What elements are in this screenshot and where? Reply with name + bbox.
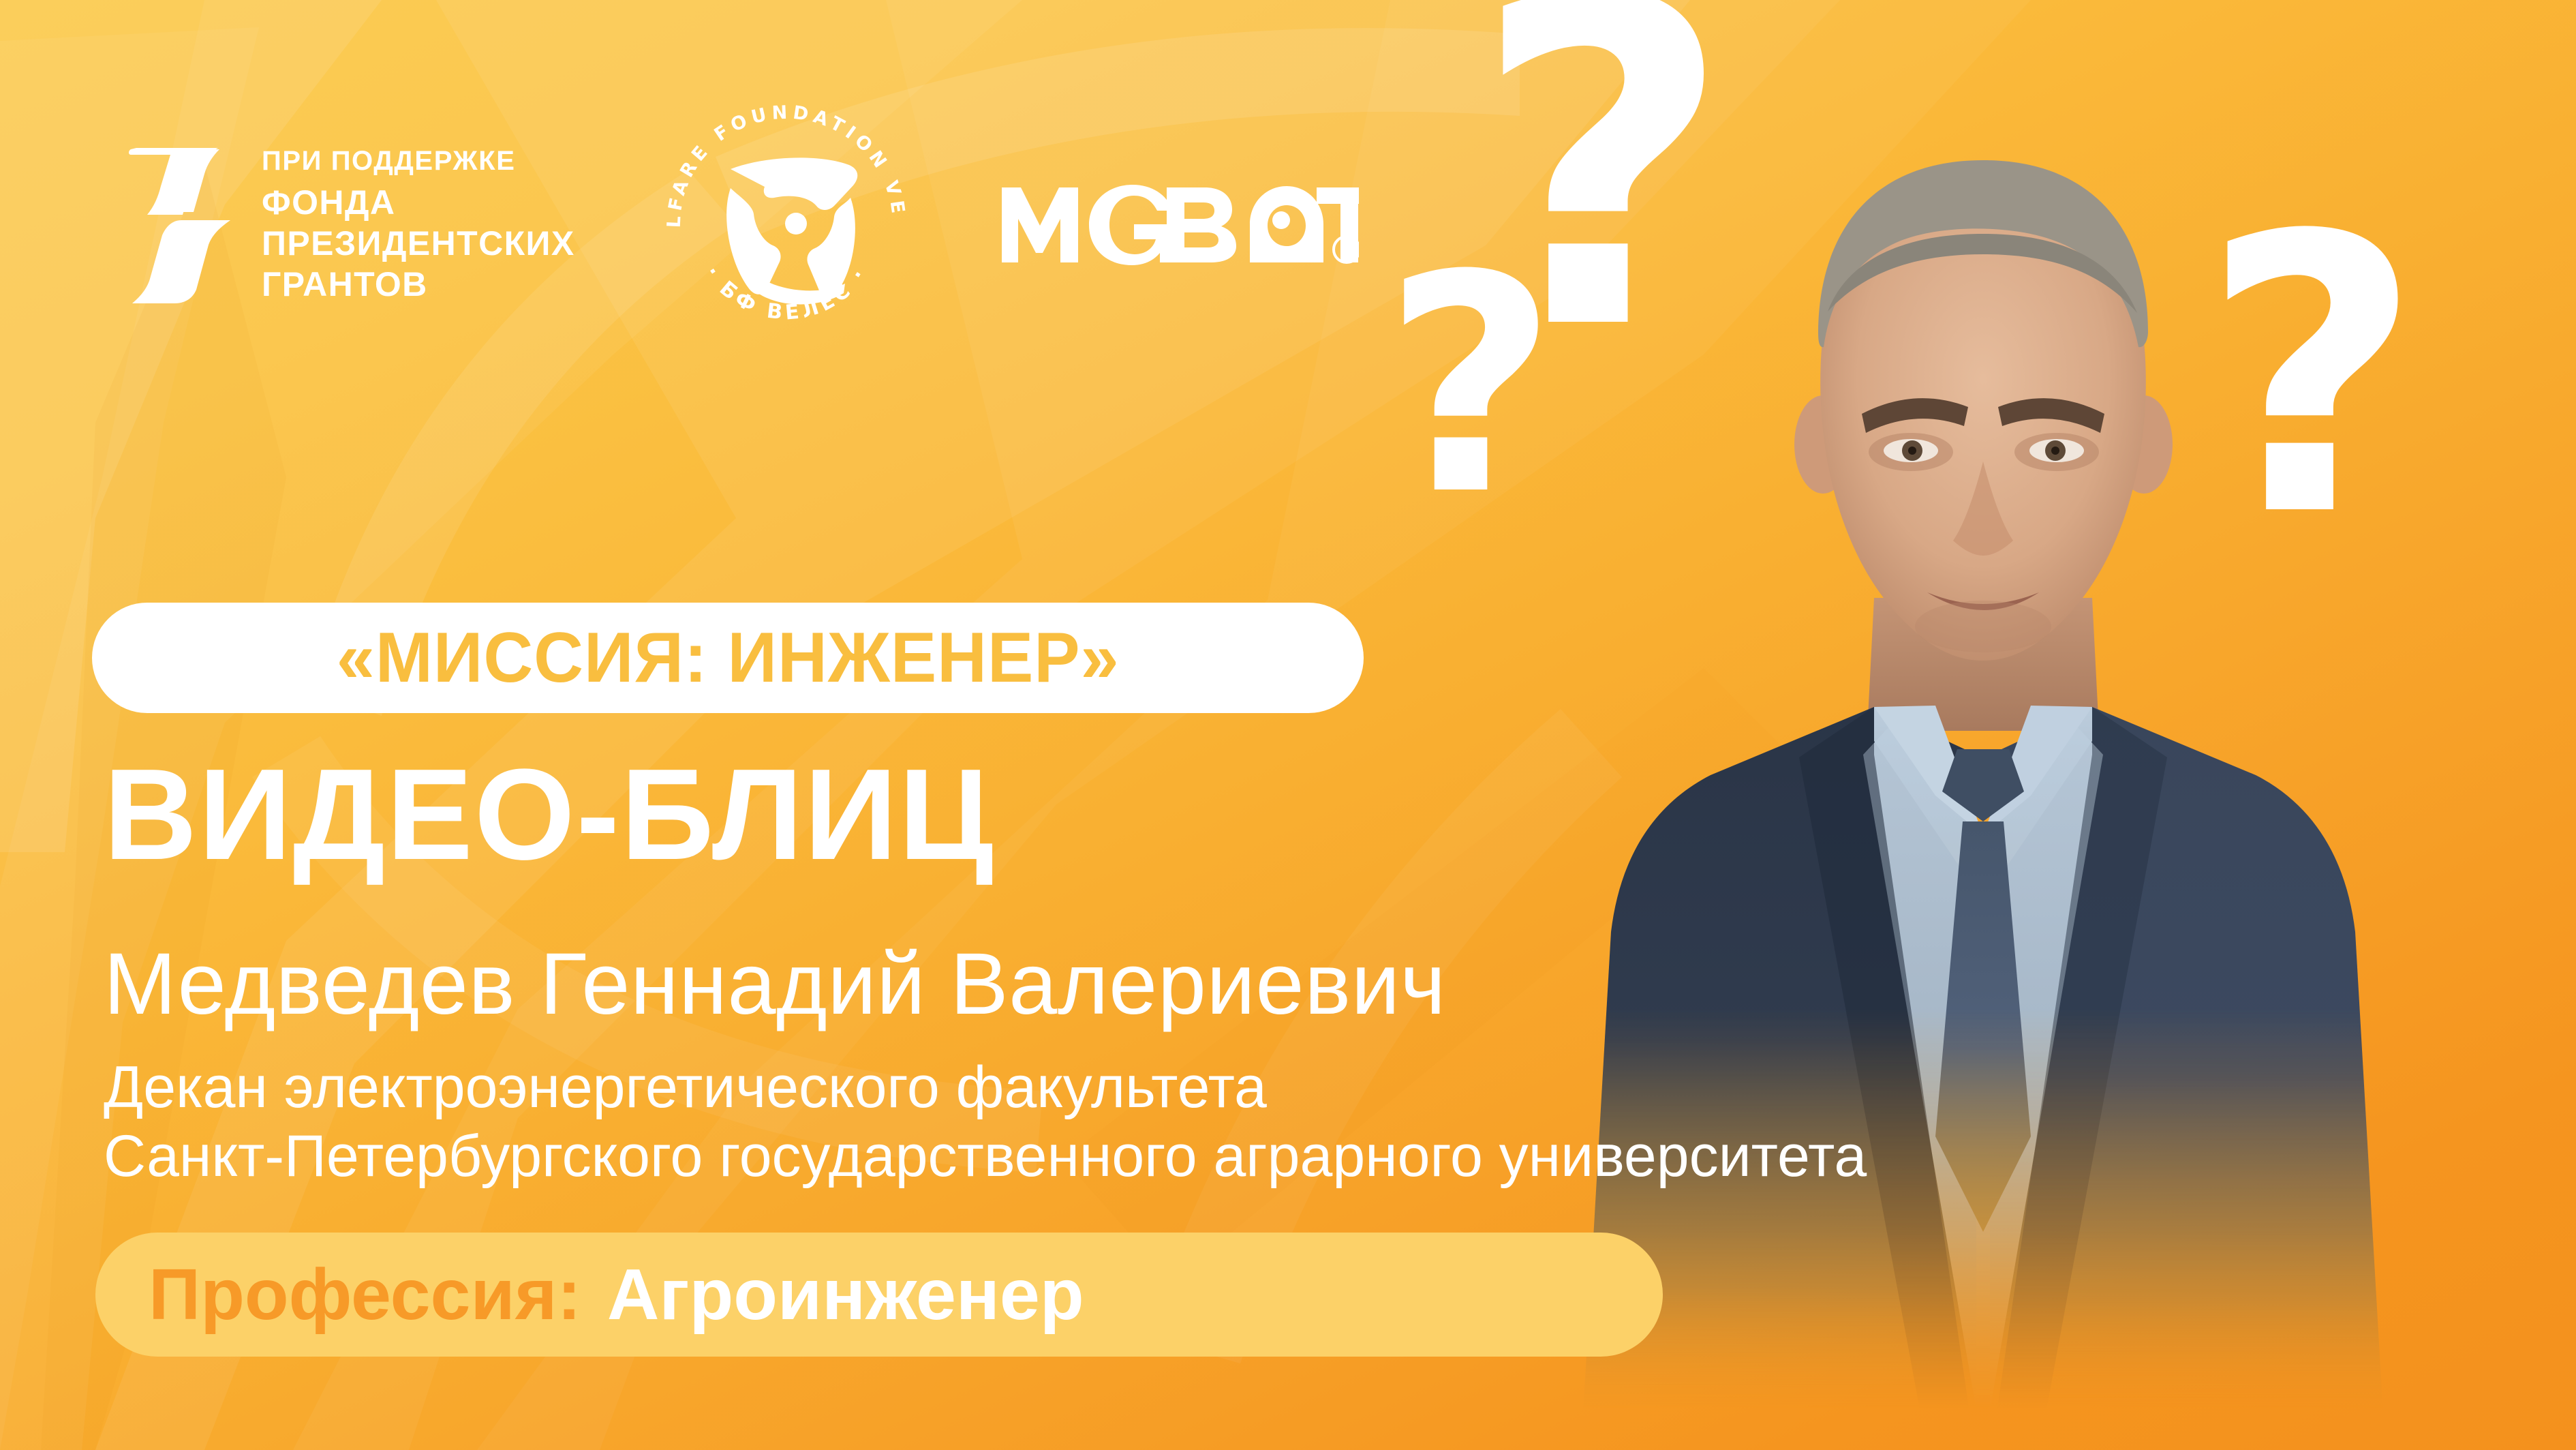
mgbot-logo: R — [998, 181, 1359, 269]
fund-name-line-3: ГРАНТОВ — [262, 264, 575, 305]
profession-badge: Профессия: Агроинженер — [95, 1233, 1663, 1357]
presidential-grants-fund-logo: ПРИ ПОДДЕРЖКЕ ФОНДА ПРЕЗИДЕНТСКИХ ГРАНТО… — [116, 144, 575, 306]
profession-value: Агроинженер — [607, 1254, 1084, 1336]
sponsor-logo-row: ПРИ ПОДДЕРЖКЕ ФОНДА ПРЕЗИДЕНТСКИХ ГРАНТО… — [116, 89, 1359, 361]
svg-text:R: R — [1340, 241, 1351, 260]
speaker-role: Декан электроэнергетического факультета … — [104, 1053, 1867, 1190]
poster-canvas: ? ? ? — [0, 0, 2576, 1450]
speaker-role-line-1: Декан электроэнергетического факультета — [104, 1053, 1867, 1122]
profession-label: Профессия: — [149, 1254, 581, 1336]
speaker-name: Медведев Геннадий Валериевич — [104, 937, 1446, 1031]
presidential-grants-fund-mark-icon — [116, 144, 233, 306]
mission-badge: «МИССИЯ: ИНЖЕНЕР» — [92, 603, 1364, 713]
presidential-grants-fund-text: ПРИ ПОДДЕРЖКЕ ФОНДА ПРЕЗИДЕНТСКИХ ГРАНТО… — [262, 145, 575, 304]
speaker-portrait — [1554, 73, 2412, 1450]
fund-name-line-1: ФОНДА — [262, 182, 575, 223]
page-title: ВИДЕО-БЛИЦ — [104, 750, 994, 879]
svg-text:WELFARE FOUNDATION VELES: WELFARE FOUNDATION VELES — [650, 89, 909, 228]
speaker-role-line-2: Санкт-Петербургского государственного аг… — [104, 1122, 1867, 1191]
fund-name-line-2: ПРЕЗИДЕНТСКИХ — [262, 223, 575, 264]
veles-foundation-logo: WELFARE FOUNDATION VELES · БФ ВЕЛЕС · — [650, 89, 923, 361]
support-label: ПРИ ПОДДЕРЖКЕ — [262, 145, 575, 177]
mission-badge-label: «МИССИЯ: ИНЖЕНЕР» — [337, 618, 1120, 699]
